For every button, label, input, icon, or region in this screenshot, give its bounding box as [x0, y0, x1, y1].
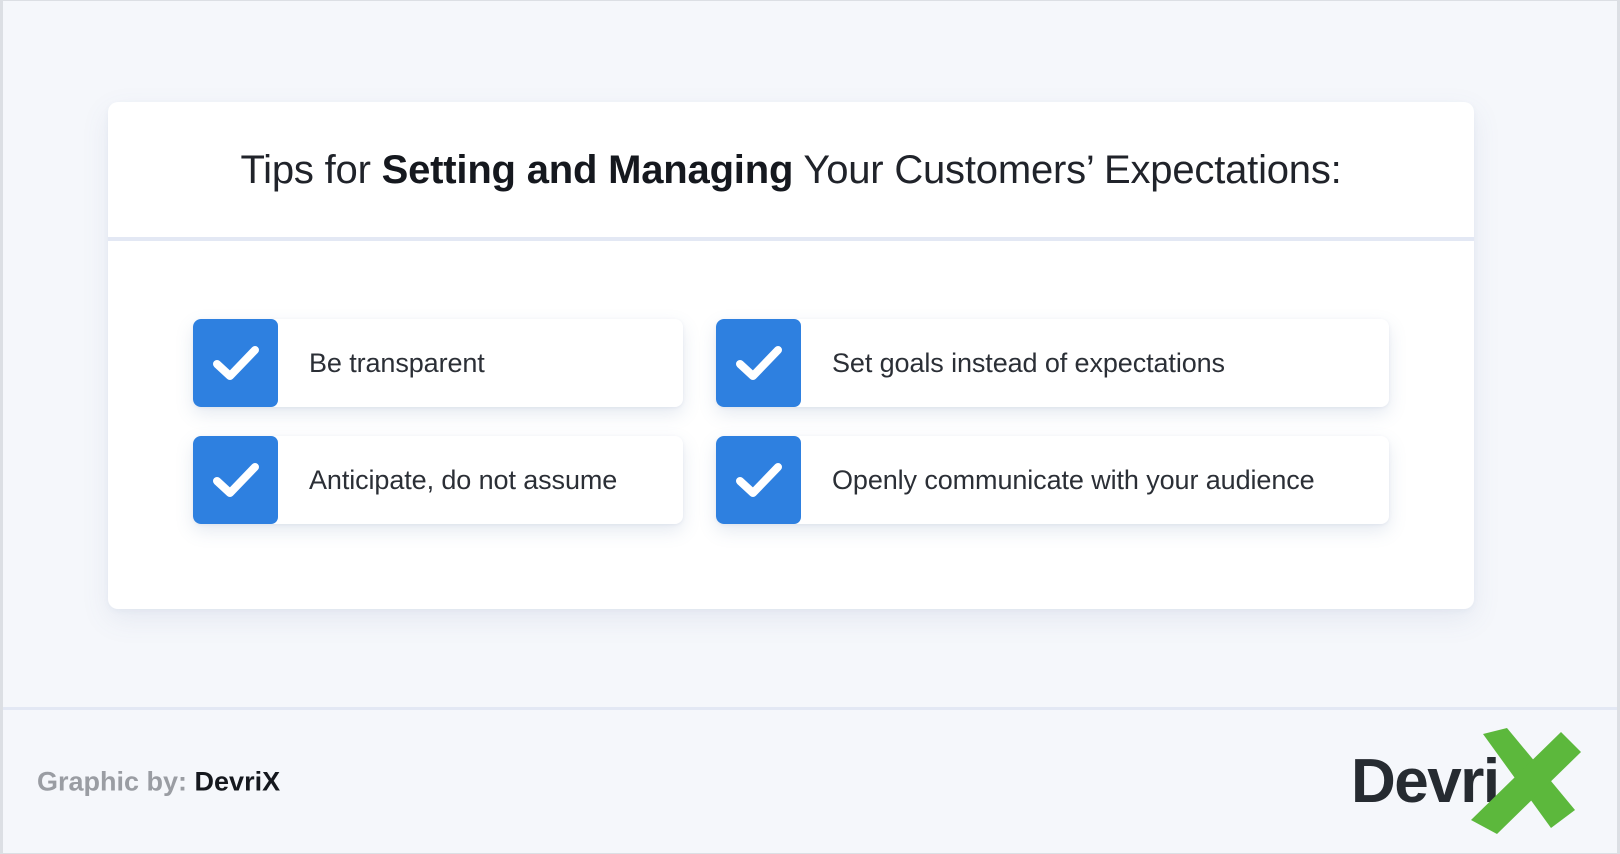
card-body: Be transparent Set goals instead of expe… [108, 241, 1474, 609]
tip-item-set-goals[interactable]: Set goals instead of expectations [716, 319, 1389, 407]
tips-grid: Be transparent Set goals instead of expe… [193, 319, 1389, 524]
tip-item-label: Be transparent [278, 319, 683, 407]
tips-card: Tips for Setting and Managing Your Custo… [108, 102, 1474, 609]
tip-item-be-transparent[interactable]: Be transparent [193, 319, 683, 407]
check-icon [716, 436, 801, 524]
card-header: Tips for Setting and Managing Your Custo… [108, 102, 1474, 237]
infographic-body: Tips for Setting and Managing Your Custo… [3, 1, 1617, 707]
page-title: Tips for Setting and Managing Your Custo… [240, 146, 1341, 194]
credit-label: Graphic by: [37, 766, 187, 796]
credit-line: Graphic by: DevriX [37, 766, 280, 797]
tip-item-anticipate[interactable]: Anticipate, do not assume [193, 436, 683, 524]
check-icon [193, 319, 278, 407]
check-icon [716, 319, 801, 407]
credit-brand: DevriX [187, 766, 280, 796]
devrix-logo[interactable]: Devri [1351, 727, 1581, 837]
tip-item-label: Anticipate, do not assume [278, 436, 683, 524]
title-suffix: Your Customers’ Expectations: [793, 148, 1341, 192]
tip-item-openly-communicate[interactable]: Openly communicate with your audience [716, 436, 1389, 524]
infographic-canvas: Tips for Setting and Managing Your Custo… [0, 0, 1620, 854]
title-prefix: Tips for [240, 148, 381, 192]
tip-item-label: Openly communicate with your audience [801, 436, 1389, 524]
x-mark-icon [1461, 728, 1581, 836]
check-icon [193, 436, 278, 524]
tip-item-label: Set goals instead of expectations [801, 319, 1389, 407]
footer: Graphic by: DevriX Devri [3, 707, 1617, 853]
title-emphasis: Setting and Managing [382, 148, 794, 192]
